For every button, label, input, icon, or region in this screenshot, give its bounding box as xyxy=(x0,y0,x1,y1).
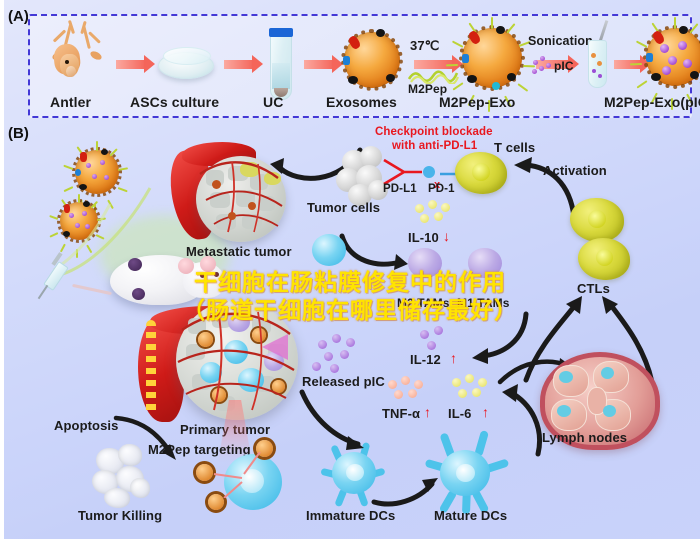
nanoparticle-bound-3 xyxy=(208,494,224,510)
activation-label: Activation xyxy=(543,163,607,178)
il10-label: IL-10 xyxy=(408,230,439,245)
targeted-macrophage-icon xyxy=(224,454,282,510)
temperature-label: 37℃ xyxy=(410,38,439,54)
pic-label: pIC xyxy=(554,59,574,73)
arrow-tumor-to-immature-dc xyxy=(296,388,368,454)
panel-b-tag: (B) xyxy=(8,125,29,142)
overlay-text-line2: （肠道干细胞在哪里储存最好） xyxy=(0,291,700,325)
peptide-exosome-icon xyxy=(462,28,522,88)
tnf-up-arrow: ↑ xyxy=(424,404,431,420)
ctl-cell-icon-1 xyxy=(570,198,624,242)
mature-dcs-label: Mature DCs xyxy=(434,508,507,523)
step-label-asc-culture: ASCs culture xyxy=(130,94,219,110)
step-label-antler: Antler xyxy=(50,94,91,110)
pd-l1-label: PD-L1 xyxy=(383,183,417,195)
process-arrow-2 xyxy=(224,60,254,69)
nanoparticle-bound-1 xyxy=(256,440,273,457)
panel-a-tag: (A) xyxy=(8,8,29,25)
il6-label: IL-6 xyxy=(448,406,472,421)
step-label-m2pep-exo-pic: M2Pep-Exo(pIC) xyxy=(604,94,700,110)
t-cell-icon xyxy=(455,152,507,194)
nanoparticle-icon-1 xyxy=(75,150,119,194)
m1-macrophage-icon xyxy=(312,234,346,266)
sonication-label: Sonication xyxy=(528,34,593,48)
arrow-immature-to-mature-dc xyxy=(370,472,440,510)
process-arrow-3 xyxy=(304,60,334,69)
panel-a-container: 37℃ M2Pep xyxy=(28,14,692,118)
il6-up-arrow: ↑ xyxy=(482,404,489,420)
tnf-alpha-label: TNF-α xyxy=(382,406,420,421)
nanoparticle-icon-2 xyxy=(60,202,98,240)
lymph-nodes-label: Lymph nodes xyxy=(542,430,627,445)
process-arrow-1 xyxy=(116,60,146,69)
step-label-uc: UC xyxy=(263,94,283,110)
checkpoint-blockade-label-line1: Checkpoint blockade xyxy=(375,126,493,138)
il10-down-arrow: ↓ xyxy=(443,228,450,244)
step-label-m2pep-exo: M2Pep-Exo xyxy=(439,94,515,110)
exosome-icon xyxy=(344,32,400,88)
il12-up-arrow: ↑ xyxy=(450,350,457,366)
deer-icon xyxy=(44,18,114,92)
metastatic-tumor-label: Metastatic tumor xyxy=(186,244,292,259)
loaded-exosome-icon xyxy=(646,28,700,86)
centrifuge-tube-icon xyxy=(270,34,292,100)
petri-dish-icon xyxy=(158,52,214,79)
m2pep-targeting-label: M2Pep targeting xyxy=(148,442,251,457)
tumor-cells-label: Tumor cells xyxy=(307,200,380,215)
sonication-tube-icon xyxy=(588,40,607,88)
pd-1-label: PD-1 xyxy=(428,183,455,195)
nanoparticle-bound-2 xyxy=(196,464,213,481)
apoptosis-label: Apoptosis xyxy=(54,418,118,433)
checkpoint-blockade-label-line2: with anti-PD-L1 xyxy=(392,140,477,152)
released-pic-label: Released pIC xyxy=(302,374,385,389)
immature-dcs-label: Immature DCs xyxy=(306,508,395,523)
figure-canvas: (A) xyxy=(0,0,700,547)
tumor-killing-label: Tumor Killing xyxy=(78,508,162,523)
il12-label: IL-12 xyxy=(410,352,441,367)
step-label-exosomes: Exosomes xyxy=(326,94,397,110)
t-cells-label: T cells xyxy=(494,140,535,155)
